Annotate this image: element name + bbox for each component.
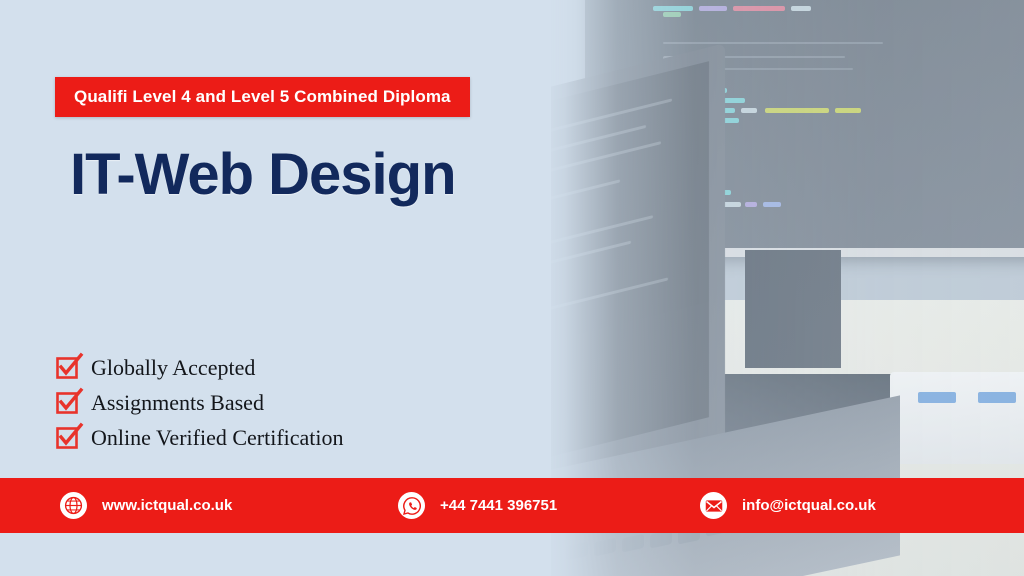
course-promo-banner: Qualifi Level 4 and Level 5 Combined Dip… bbox=[0, 0, 1024, 576]
feature-label: Globally Accepted bbox=[91, 355, 255, 381]
qualification-ribbon: Qualifi Level 4 and Level 5 Combined Dip… bbox=[55, 77, 470, 117]
list-item: Online Verified Certification bbox=[56, 420, 344, 455]
list-item: Globally Accepted bbox=[56, 350, 344, 385]
feature-label: Assignments Based bbox=[91, 390, 264, 416]
feature-label: Online Verified Certification bbox=[91, 425, 344, 451]
whatsapp-phone-icon bbox=[398, 492, 425, 519]
contact-phone[interactable]: +44 7441 396751 bbox=[398, 492, 557, 519]
envelope-icon bbox=[700, 492, 727, 519]
email-label: info@ictqual.co.uk bbox=[742, 497, 876, 514]
globe-icon bbox=[60, 492, 87, 519]
checkbox-checked-icon bbox=[56, 356, 80, 380]
phone-label: +44 7441 396751 bbox=[440, 497, 557, 514]
contact-footer: www.ictqual.co.uk +44 7441 396751 info@i… bbox=[0, 478, 1024, 533]
ribbon-label: Qualifi Level 4 and Level 5 Combined Dip… bbox=[74, 87, 451, 107]
checkbox-checked-icon bbox=[56, 426, 80, 450]
contact-email[interactable]: info@ictqual.co.uk bbox=[700, 492, 876, 519]
list-item: Assignments Based bbox=[56, 385, 344, 420]
checkbox-checked-icon bbox=[56, 391, 80, 415]
page-title: IT-Web Design bbox=[70, 141, 456, 208]
contact-website[interactable]: www.ictqual.co.uk bbox=[60, 492, 232, 519]
feature-list: Globally Accepted Assignments Based Onli… bbox=[56, 350, 344, 455]
website-label: www.ictqual.co.uk bbox=[102, 497, 232, 514]
